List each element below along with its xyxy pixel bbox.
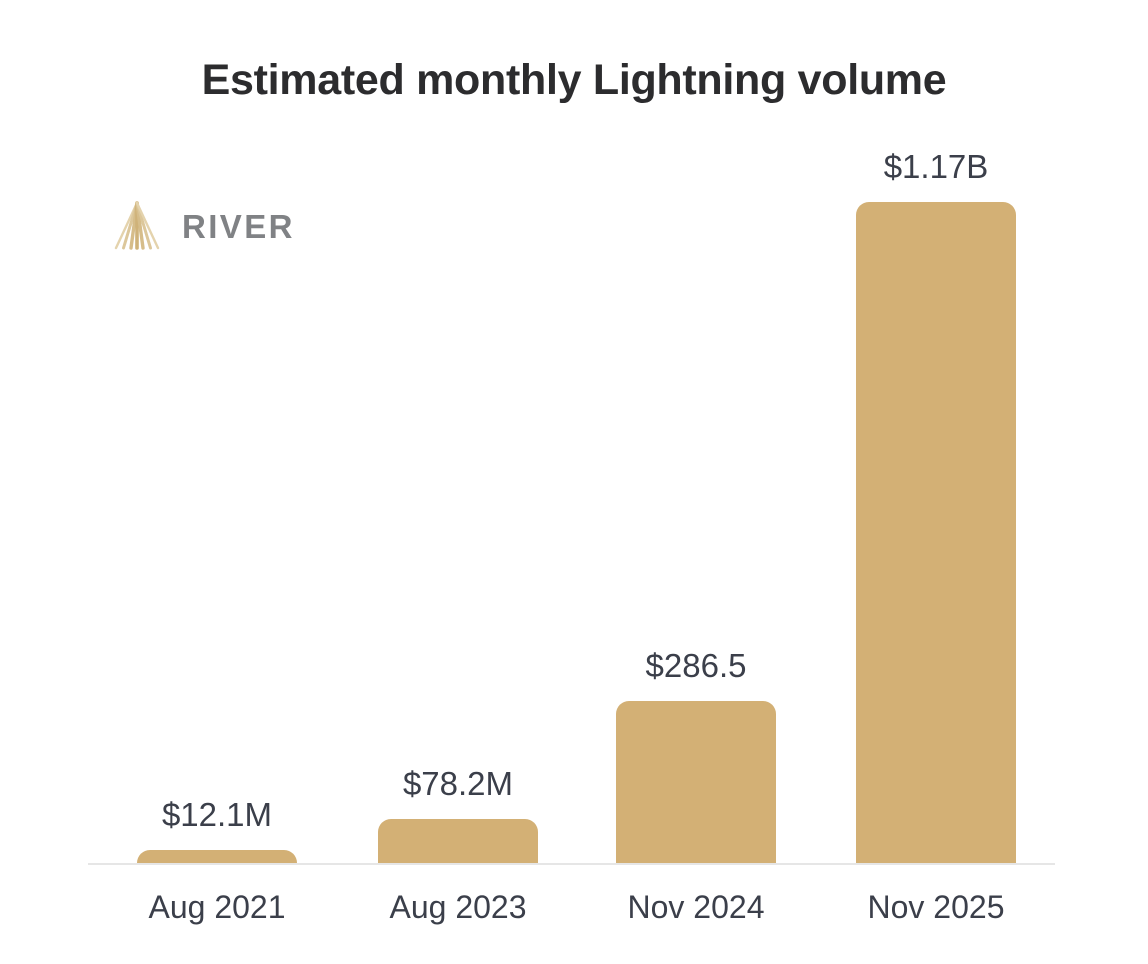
bar-category-label: Nov 2025 (836, 891, 1036, 923)
bar[interactable] (856, 202, 1016, 863)
bar[interactable] (616, 701, 776, 863)
bar-category-label: Aug 2023 (358, 891, 558, 923)
axis-baseline (88, 863, 1055, 865)
bar-category-label: Aug 2021 (117, 891, 317, 923)
chart-card: Estimated monthly Lightning volume RIVER… (0, 0, 1148, 964)
bar[interactable] (137, 850, 297, 863)
plot-area: $12.1M Aug 2021 $78.2M Aug 2023 $286.5 N… (0, 0, 1148, 964)
bar-value-label: $78.2M (378, 767, 538, 800)
bar[interactable] (378, 819, 538, 863)
bar-value-label: $12.1M (137, 798, 297, 831)
bar-value-label: $286.5 (616, 649, 776, 682)
bar-category-label: Nov 2024 (596, 891, 796, 923)
bar-value-label: $1.17B (856, 150, 1016, 183)
